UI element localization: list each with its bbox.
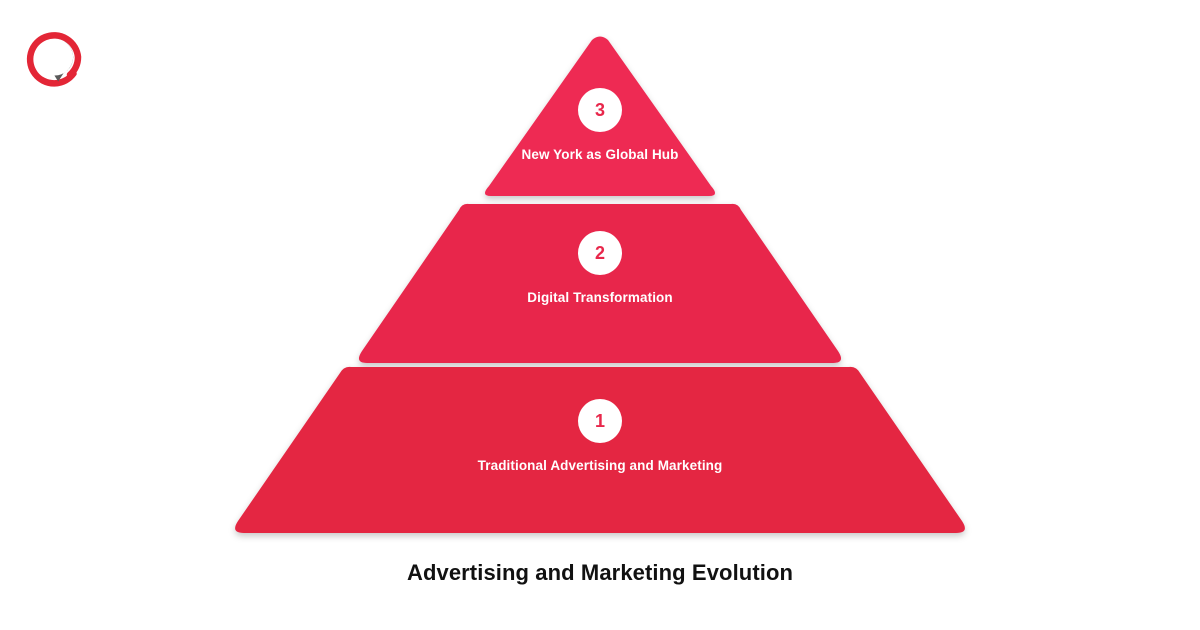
chart-title: Advertising and Marketing Evolution <box>0 560 1200 586</box>
pyramid-chart: 3 New York as Global Hub 2 Digital Trans… <box>0 0 1200 545</box>
pyramid-level-3-shape <box>485 37 715 197</box>
pyramid-level-1-shape <box>235 367 965 533</box>
pyramid-level-3[interactable]: 3 New York as Global Hub <box>470 28 730 208</box>
pyramid-level-1[interactable]: 1 Traditional Advertising and Marketing <box>220 361 980 547</box>
pyramid-level-2[interactable]: 2 Digital Transformation <box>345 196 855 376</box>
pyramid-level-2-shape <box>359 204 841 363</box>
